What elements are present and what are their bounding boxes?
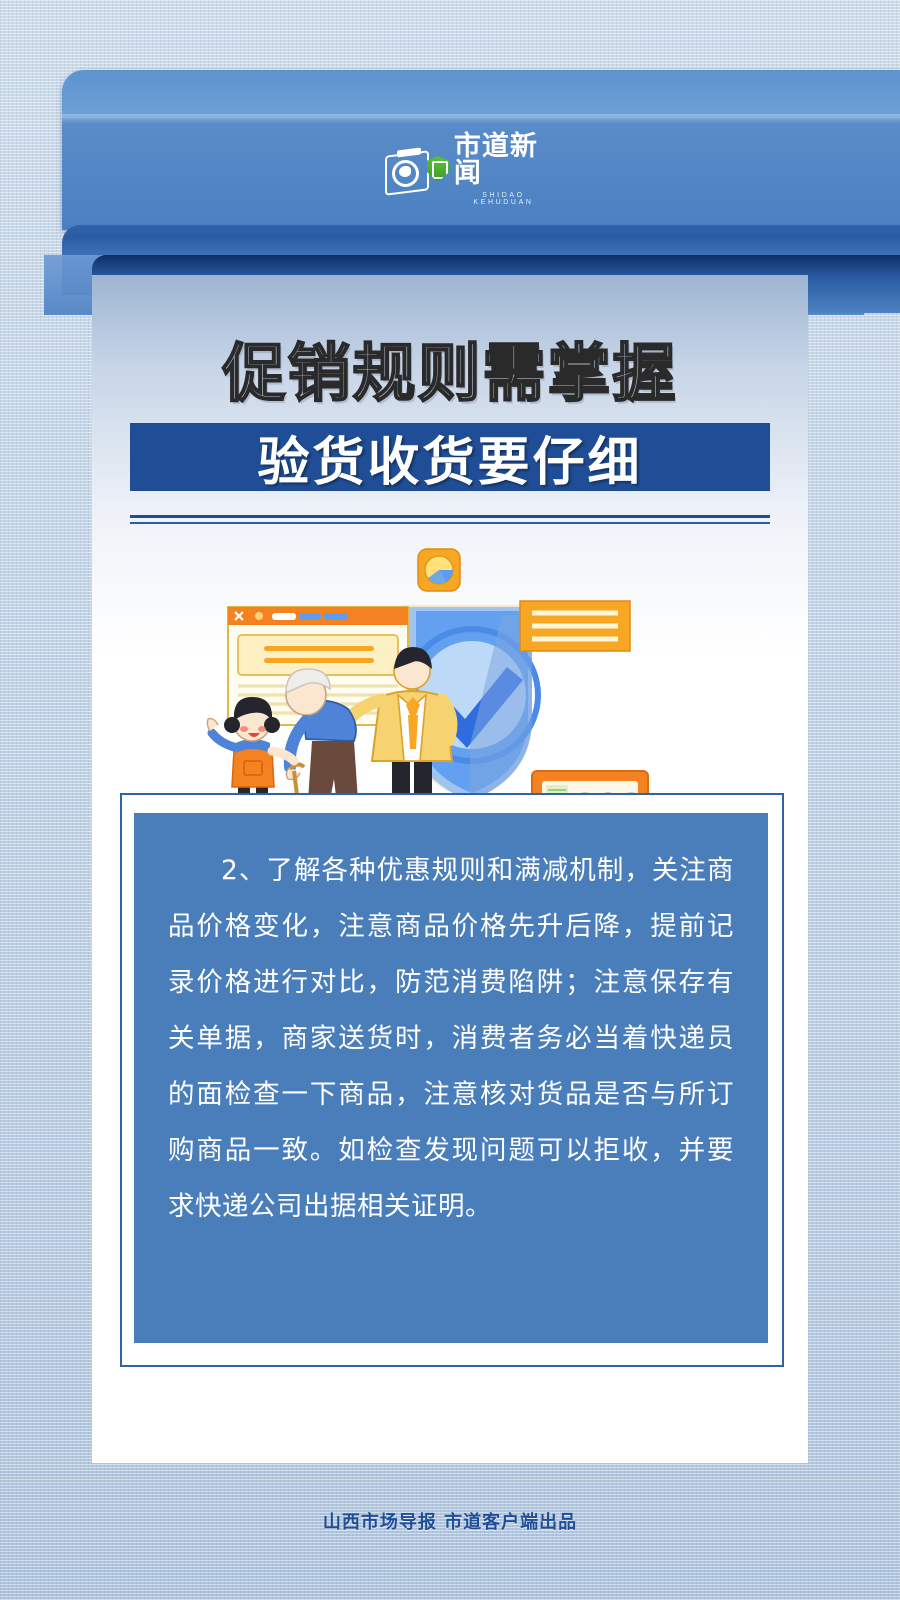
brand-logo: 市道新闻 SHIDAO KEHUDUAN [383,142,553,196]
brand-name-cn: 市道新闻 [454,133,553,187]
content-paragraph: 2、了解各种优惠规则和满减机制，关注商品价格变化，注意商品价格先升后降，提前记录… [134,843,768,1235]
pie-chart-icon [418,549,460,591]
footer-credit: 山西市场导报 市道客户端出品 [0,1508,900,1534]
divider-line-bottom [130,522,770,524]
camera-icon [383,147,422,191]
note-card [520,601,630,651]
brand-text: 市道新闻 SHIDAO KEHUDUAN [454,133,553,206]
divider-line-top [130,515,770,518]
shield-icon [427,156,449,182]
headline-line1: 促销规则需掌握 [92,323,808,414]
poster-root: 市道新闻 SHIDAO KEHUDUAN 促销规则需掌握 验货收货要仔细 [0,0,900,1600]
brand-name-en: SHIDAO KEHUDUAN [454,192,553,206]
headline-line2: 验货收货要仔细 [257,420,642,495]
top-banner: 市道新闻 SHIDAO KEHUDUAN [0,0,900,320]
content-box: 2、了解各种优惠规则和满减机制，关注商品价格变化，注意商品价格先升后降，提前记录… [134,813,768,1343]
headline-line2-bar: 验货收货要仔细 [130,423,770,491]
paper-sheet: 促销规则需掌握 验货收货要仔细 [92,275,808,1463]
